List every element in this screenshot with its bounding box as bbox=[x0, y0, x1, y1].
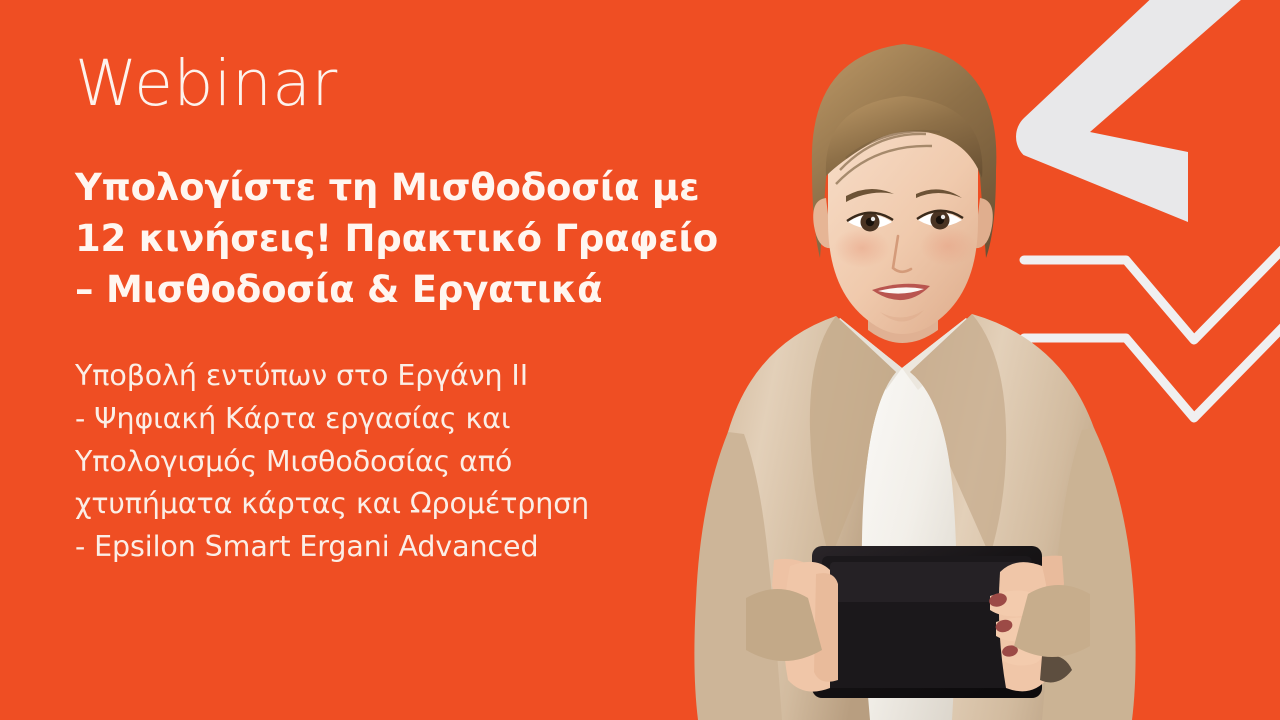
body-line-3: Υπολογισμός Μισθοδοσίας από bbox=[75, 441, 735, 484]
banner-text-column: Webinar Υπολογίστε τη Μισθοδοσία με 12 κ… bbox=[75, 0, 755, 720]
body-line-4: χτυπήματα κάρτας και Ωρομέτρηση bbox=[75, 483, 735, 526]
cheek-left bbox=[834, 228, 890, 268]
body-line-1: Υποβολή εντύπων στο Εργάνη ΙΙ bbox=[75, 355, 735, 398]
cheek-right bbox=[920, 226, 976, 266]
body-line-2: - Ψηφιακή Κάρτα εργασίας και bbox=[75, 398, 735, 441]
webinar-banner: Webinar Υπολογίστε τη Μισθοδοσία με 12 κ… bbox=[0, 0, 1280, 720]
hand-left-thumb bbox=[814, 573, 838, 682]
presenter-head bbox=[812, 44, 997, 334]
headline-line-3: – Μισθοδοσία & Εργατικά bbox=[75, 264, 755, 315]
presenter-photo bbox=[690, 0, 1280, 720]
presenter-hands-tablet bbox=[746, 546, 1090, 698]
webinar-kicker: Webinar bbox=[75, 52, 338, 115]
headline-line-1: Υπολογίστε τη Μισθοδοσία με bbox=[75, 162, 755, 213]
banner-headline: Υπολογίστε τη Μισθοδοσία με 12 κινήσεις!… bbox=[75, 162, 755, 315]
body-line-5: - Epsilon Smart Ergani Advanced bbox=[75, 526, 735, 569]
headline-line-2: 12 κινήσεις! Πρακτικό Γραφείο bbox=[75, 213, 755, 264]
banner-body-text: Υποβολή εντύπων στο Εργάνη ΙΙ - Ψηφιακή … bbox=[75, 355, 735, 569]
